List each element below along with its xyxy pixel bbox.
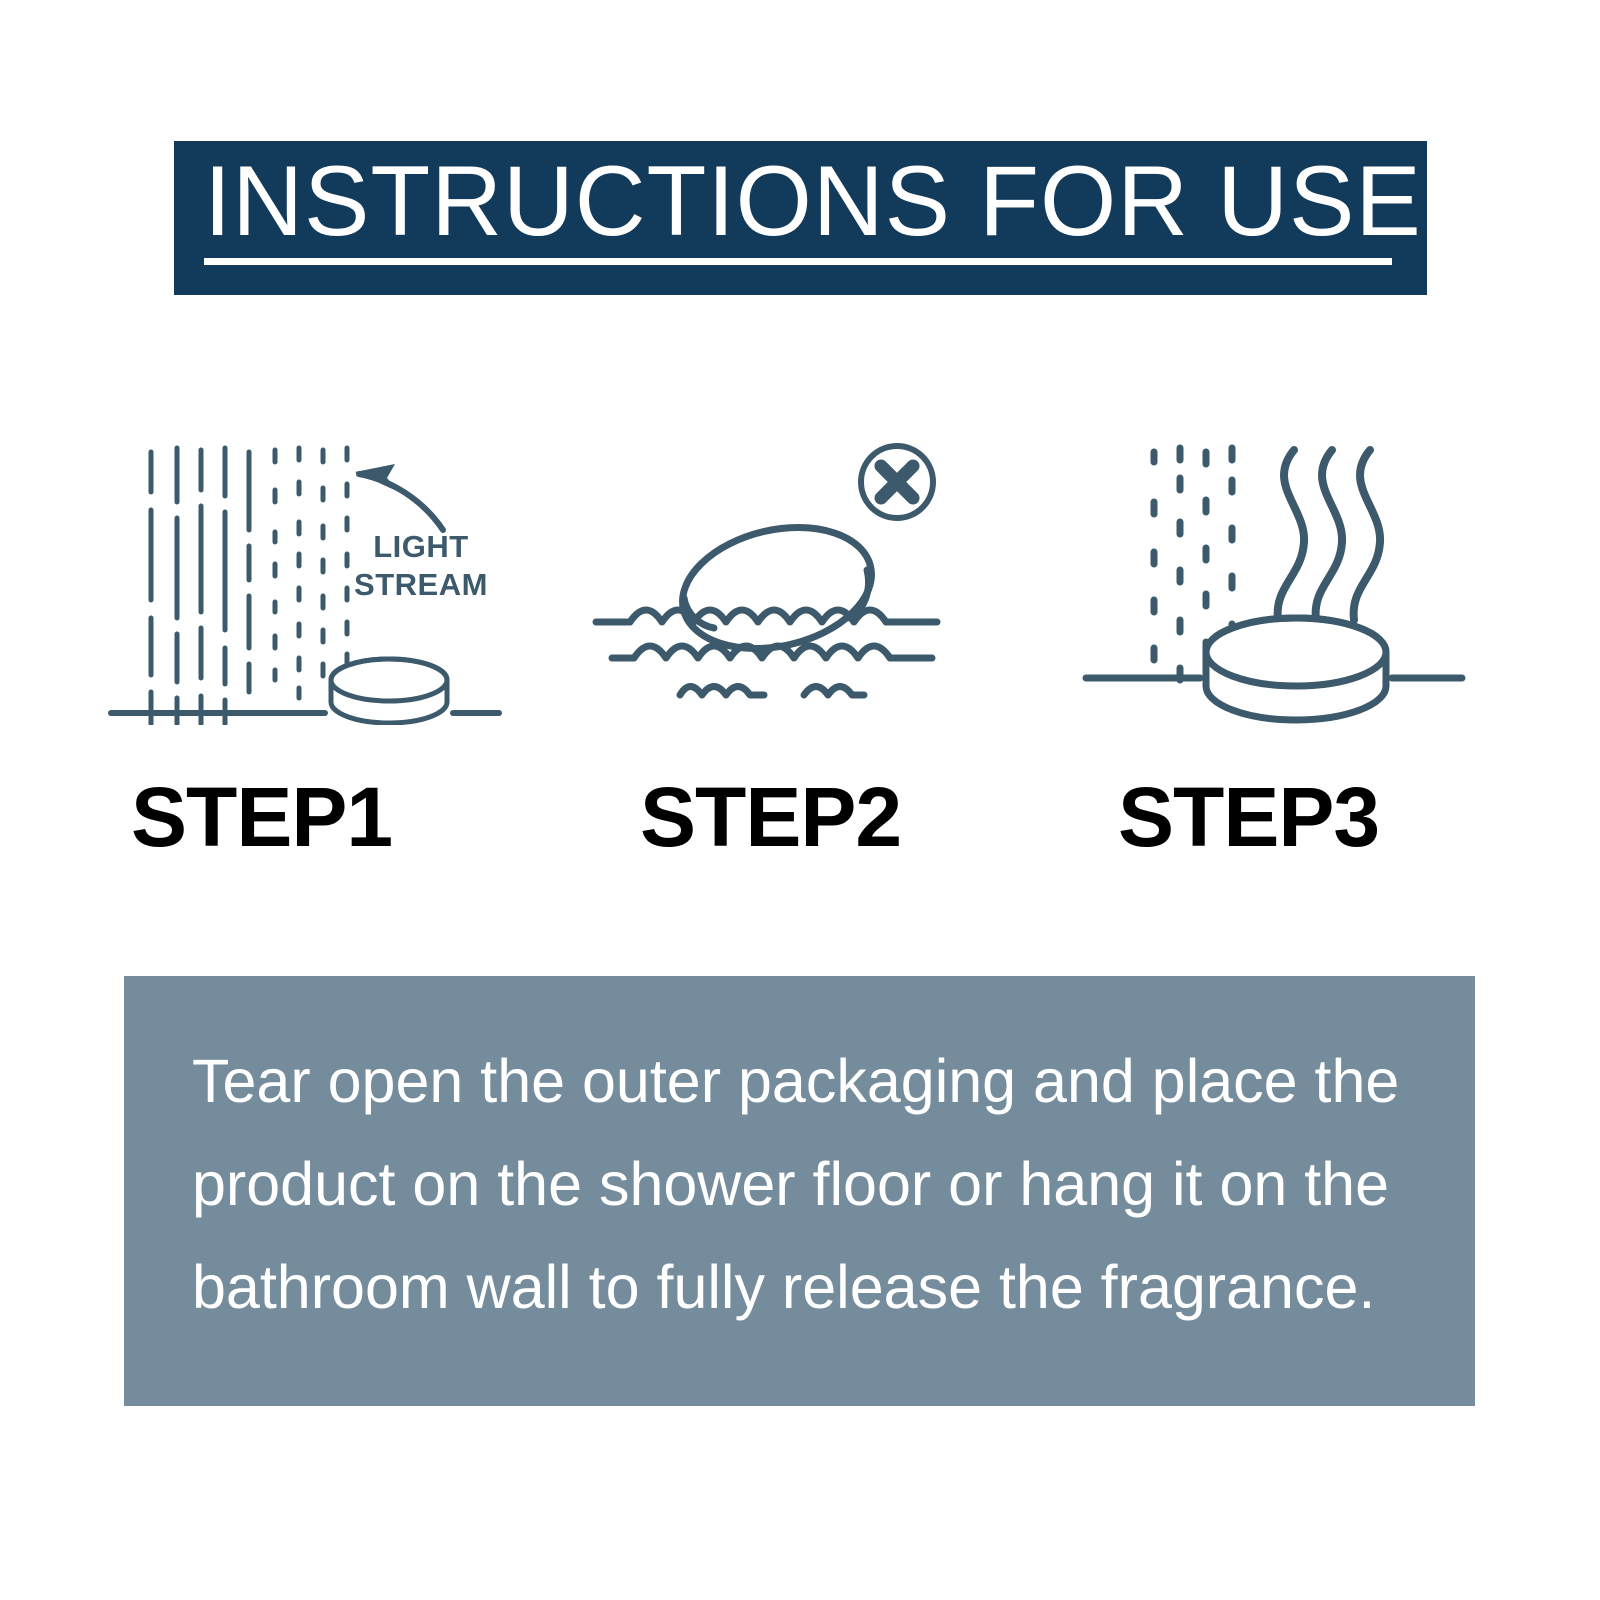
tablet-steam-fragrance-icon (1068, 430, 1468, 725)
header-banner: INSTRUCTIONS FOR USE (174, 141, 1427, 295)
light-stream-annotation: LIGHT STREAM (341, 528, 501, 604)
wave-line-3b (804, 687, 864, 696)
annotation-line-2: STREAM (341, 566, 501, 604)
steam-lines (1278, 450, 1380, 620)
step-item-3: STEP3 (1068, 430, 1498, 890)
step-label-1: STEP1 (103, 775, 503, 859)
steps-row: LIGHT STREAM STEP1 (0, 430, 1600, 890)
description-panel: Tear open the outer packaging and place … (124, 976, 1475, 1406)
step-item-1: LIGHT STREAM STEP1 (103, 430, 533, 890)
title-underline (204, 258, 1392, 265)
annotation-line-1: LIGHT (341, 528, 501, 566)
step-label-2: STEP2 (592, 775, 992, 859)
description-text: Tear open the outer packaging and place … (192, 1030, 1407, 1339)
wave-line-1 (596, 610, 937, 622)
tablet-in-water-prohibited-icon (592, 430, 992, 725)
arrow-head (355, 464, 399, 492)
tablet-puck (1206, 618, 1386, 720)
page-title: INSTRUCTIONS FOR USE (204, 147, 1385, 255)
wave-line-3a (680, 687, 764, 696)
close-icon (881, 466, 913, 498)
wave-line-2 (612, 646, 932, 658)
step-item-2: STEP2 (592, 430, 1022, 890)
step-label-3: STEP3 (1068, 775, 1468, 859)
